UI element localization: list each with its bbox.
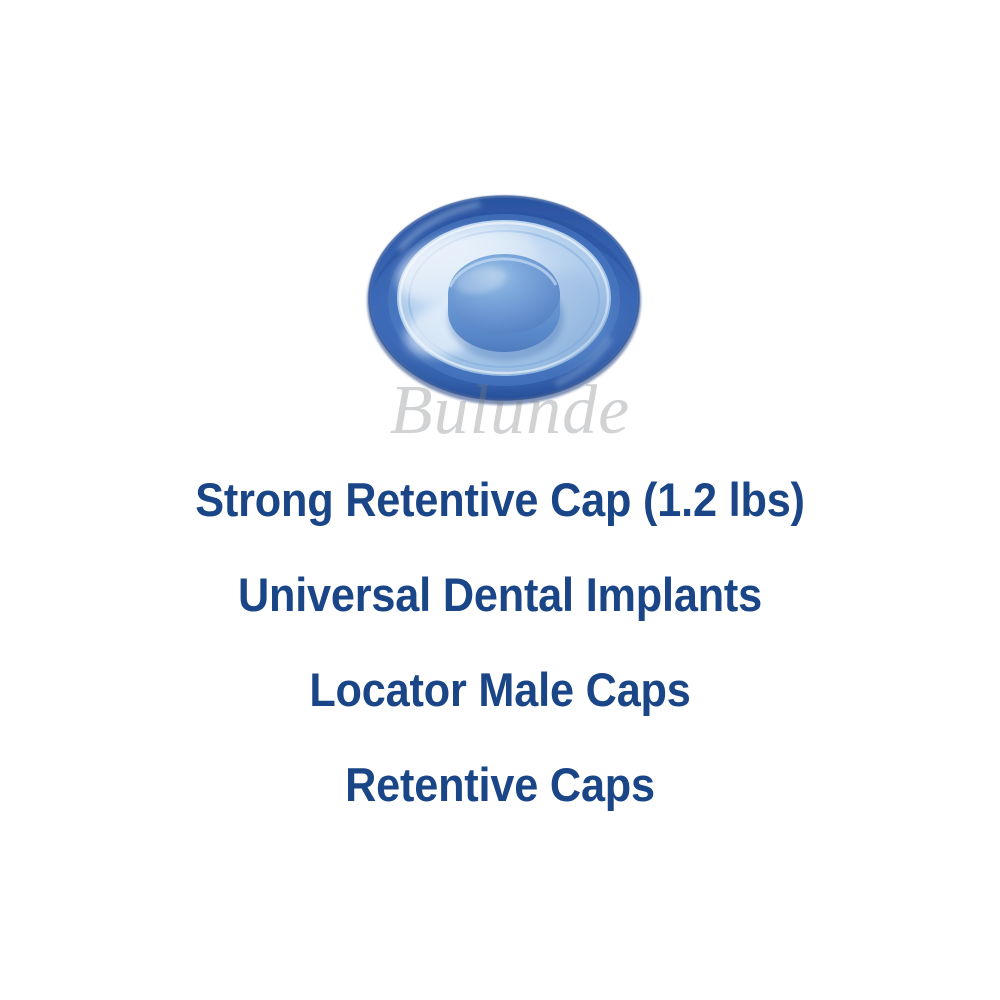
product-image-page: Bulunde Strong Retentive Cap (1.2 lbs) U… (0, 0, 1000, 1000)
caption-line-universal-dental-implants: Universal Dental Implants (40, 547, 960, 642)
cap-center-dome (448, 254, 564, 361)
caption-line-strong-retentive-cap: Strong Retentive Cap (1.2 lbs) (40, 452, 960, 547)
caption-line-locator-male-caps: Locator Male Caps (40, 642, 960, 737)
product-photo (360, 188, 648, 410)
dome-top (448, 254, 560, 334)
retentive-cap-illustration (360, 188, 648, 410)
caption-line-retentive-caps: Retentive Caps (40, 737, 960, 832)
caption-block: Strong Retentive Cap (1.2 lbs) Universal… (0, 452, 1000, 832)
